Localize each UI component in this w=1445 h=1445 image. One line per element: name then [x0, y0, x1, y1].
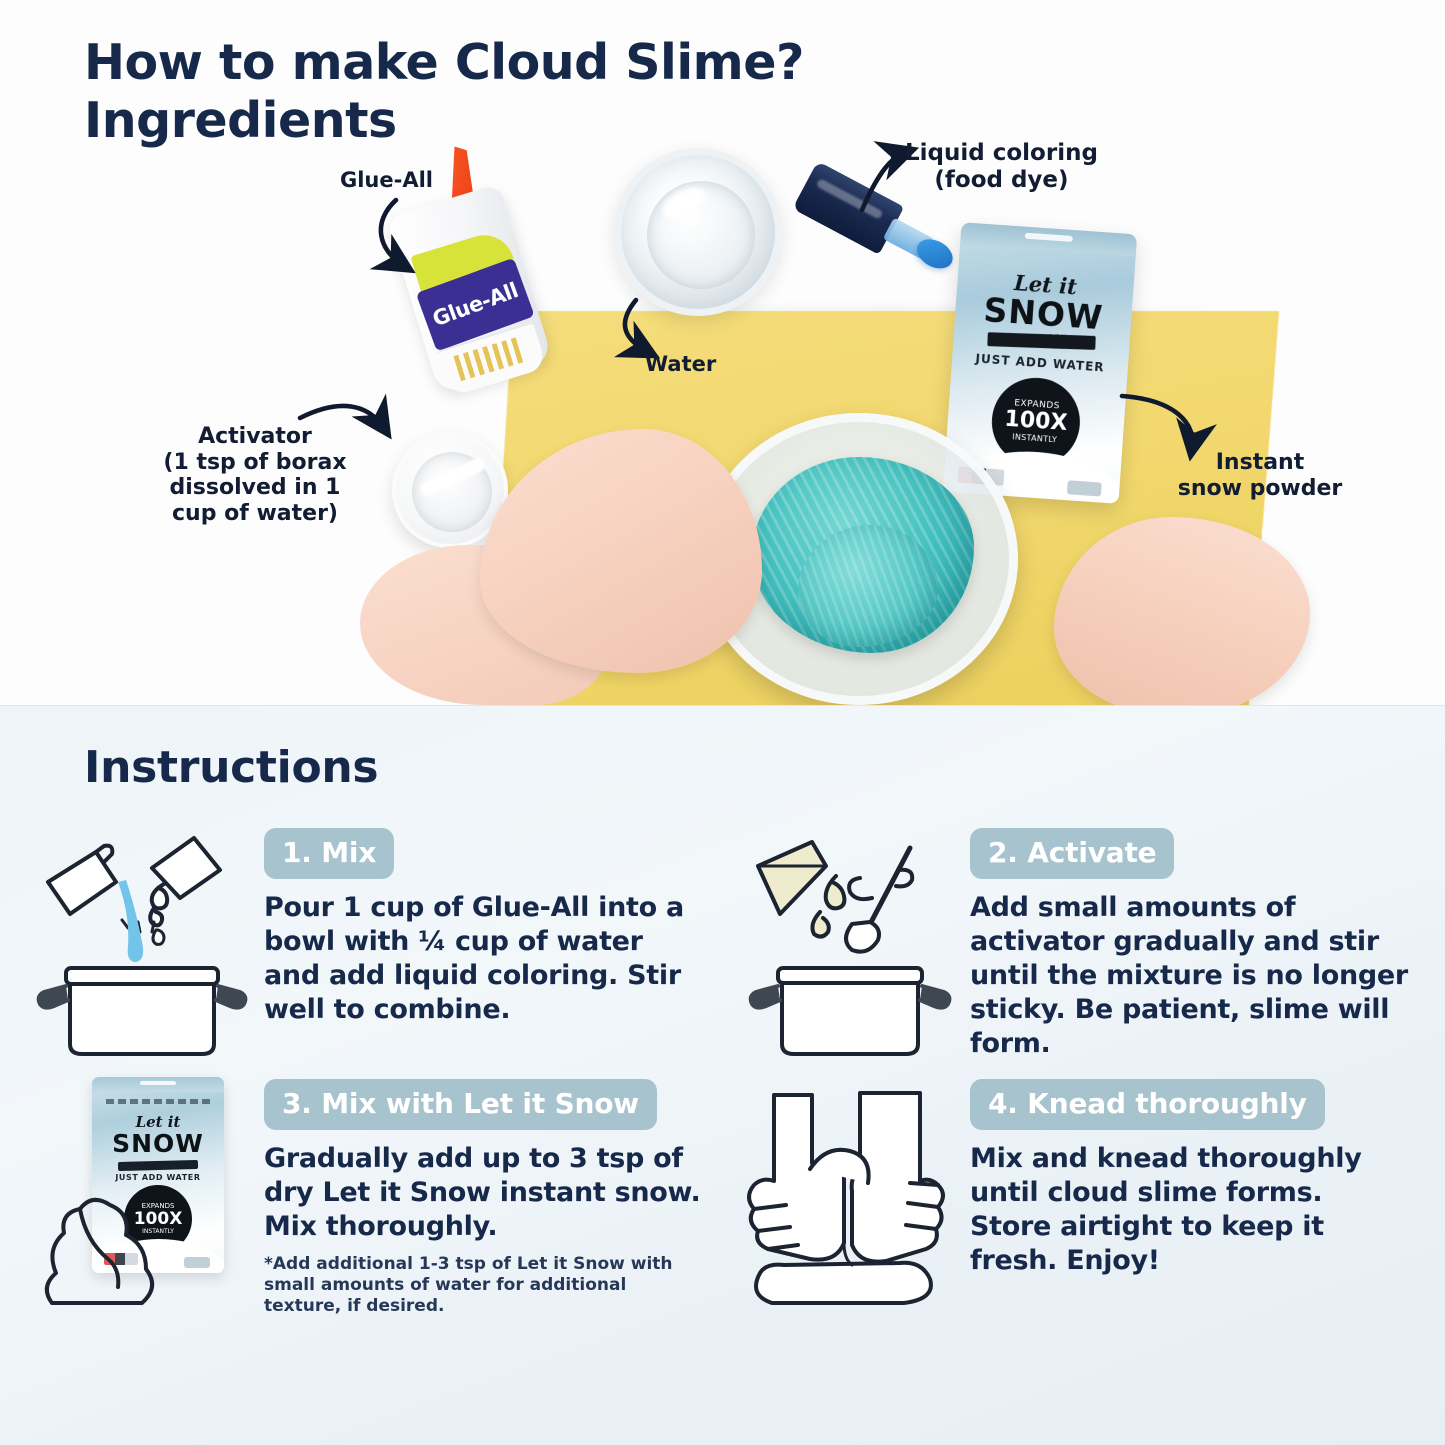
step-3-text: Gradually add up to 3 tsp of dry Let it …	[264, 1142, 706, 1244]
step-4-text: Mix and knead thoroughly until cloud sli…	[970, 1142, 1412, 1278]
step-2: 2. Activate Add small amounts of activat…	[734, 818, 1418, 1065]
step-1-badge: 1. Mix	[264, 828, 394, 879]
step-4-badge: 4. Knead thoroughly	[970, 1079, 1325, 1130]
snow-pile-outline-icon	[34, 1073, 250, 1311]
step-1: 1. Mix Pour 1 cup of Glue-All into a bow…	[28, 818, 712, 1065]
dropper-highlight	[816, 178, 884, 220]
label-instant-snow-powder: Instant snow powder	[1140, 450, 1380, 501]
water-glass	[614, 148, 782, 316]
pouch-dark-bar	[987, 332, 1095, 350]
title-block: How to make Cloud Slime? Ingredients	[84, 34, 804, 150]
label-instant-snow-line1: Instant	[1140, 450, 1380, 476]
activate-illustration	[740, 822, 956, 1060]
snow-pouch-icon: Let it SNOW JUST ADD WATER EXPANDS 100X …	[34, 1073, 250, 1311]
pouch-tagline: JUST ADD WATER	[952, 350, 1129, 376]
label-activator: Activator (1 tsp of borax dissolved in 1…	[140, 424, 370, 527]
pot-pour-icon	[34, 822, 250, 1060]
label-liquid-coloring-line1: Liquid coloring	[905, 140, 1098, 167]
glue-brand-text: Glue-All	[429, 278, 521, 331]
label-glue-all: Glue-All	[340, 168, 433, 193]
label-liquid-coloring: Liquid coloring (food dye)	[905, 140, 1098, 194]
page-title: How to make Cloud Slime?	[84, 34, 804, 92]
label-liquid-coloring-line2: (food dye)	[905, 167, 1098, 194]
right-hand	[1054, 517, 1310, 710]
step-3-body: 3. Mix with Let it Snow Gradually add up…	[264, 1073, 706, 1317]
ingredients-section: How to make Cloud Slime? Ingredients Glu…	[0, 0, 1445, 710]
step-2-text: Add small amounts of activator gradually…	[970, 891, 1412, 1061]
step-1-text: Pour 1 cup of Glue-All into a bowl with …	[264, 891, 706, 1027]
step-4-body: 4. Knead thoroughly Mix and knead thorou…	[970, 1073, 1412, 1278]
label-activator-line2: (1 tsp of borax	[140, 450, 370, 476]
steps-grid: 1. Mix Pour 1 cup of Glue-All into a bow…	[28, 818, 1418, 1321]
hands-kneading-photo	[520, 395, 1280, 710]
label-activator-line1: Activator	[140, 424, 370, 450]
step-4: 4. Knead thoroughly Mix and knead thorou…	[734, 1069, 1418, 1321]
glue-all-bottle: Glue-All	[381, 164, 560, 397]
kneading-hands-illustration	[740, 1073, 956, 1311]
glue-bottle-body: Glue-All	[386, 183, 553, 394]
left-hand	[480, 429, 762, 673]
ingredients-heading: Ingredients	[84, 92, 804, 150]
instructions-section: Instructions	[0, 705, 1445, 1445]
label-activator-line3: dissolved in 1	[140, 475, 370, 501]
step-2-body: 2. Activate Add small amounts of activat…	[970, 822, 1412, 1061]
step-3-badge: 3. Mix with Let it Snow	[264, 1079, 657, 1130]
instructions-heading: Instructions	[84, 742, 378, 793]
pot-beaker-whisk-icon	[740, 822, 956, 1060]
label-activator-line4: cup of water)	[140, 501, 370, 527]
step-3: Let it SNOW JUST ADD WATER EXPANDS 100X …	[28, 1069, 712, 1321]
label-water: Water	[645, 352, 716, 377]
step-1-body: 1. Mix Pour 1 cup of Glue-All into a bow…	[264, 822, 706, 1027]
label-instant-snow-line2: snow powder	[1140, 476, 1380, 502]
step-2-badge: 2. Activate	[970, 828, 1174, 879]
kneading-hands-icon	[740, 1073, 956, 1311]
infographic-page: How to make Cloud Slime? Ingredients Glu…	[0, 0, 1445, 1445]
step-3-note: *Add additional 1-3 tsp of Let it Snow w…	[264, 1254, 706, 1317]
pot-pour-illustration	[34, 822, 250, 1060]
